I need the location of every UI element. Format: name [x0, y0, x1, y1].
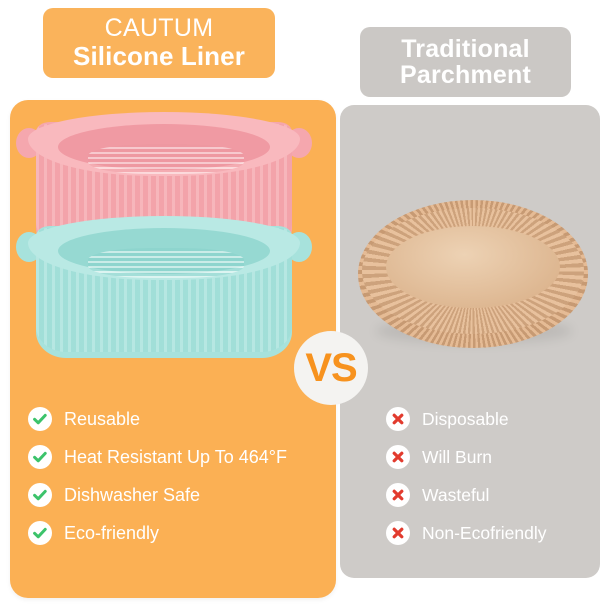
cross-icon: [386, 407, 410, 431]
check-icon: [28, 483, 52, 507]
list-item: Will Burn: [386, 438, 596, 476]
list-item: Eco-friendly: [28, 514, 328, 552]
list-item-label: Non-Ecofriendly: [422, 523, 547, 544]
parchment-base: [386, 226, 560, 308]
list-item: Heat Resistant Up To 464°F: [28, 438, 328, 476]
check-icon: [28, 445, 52, 469]
list-item-label: Disposable: [422, 409, 509, 430]
list-item: Non-Ecofriendly: [386, 514, 596, 552]
brand-name: CAUTUM: [105, 15, 214, 42]
silicone-liner-image: [14, 104, 332, 372]
liner-wave-ridges: [88, 248, 244, 278]
versus-badge: VS: [294, 331, 368, 405]
list-item-label: Wasteful: [422, 485, 489, 506]
cross-icon: [386, 445, 410, 469]
list-item-label: Eco-friendly: [64, 523, 159, 544]
cross-icon: [386, 483, 410, 507]
list-item: Disposable: [386, 400, 596, 438]
list-item-label: Reusable: [64, 409, 140, 430]
list-item: Reusable: [28, 400, 328, 438]
list-item: Wasteful: [386, 476, 596, 514]
liner-wave-ridges: [88, 144, 244, 174]
right-header-line2: Parchment: [400, 62, 531, 89]
right-feature-list: Disposable Will Burn Wasteful Non-Ecofri…: [386, 400, 596, 552]
check-icon: [28, 407, 52, 431]
comparison-infographic: CAUTUM Silicone Liner Traditional Parchm…: [0, 0, 612, 612]
cross-icon: [386, 521, 410, 545]
check-icon: [28, 521, 52, 545]
parchment-liner-image: [358, 200, 588, 360]
list-item-label: Will Burn: [422, 447, 492, 468]
product-name: Silicone Liner: [73, 43, 245, 71]
versus-label: VS: [305, 346, 356, 391]
list-item-label: Heat Resistant Up To 464°F: [64, 447, 287, 468]
right-header-badge: Traditional Parchment: [360, 27, 571, 97]
list-item: Dishwasher Safe: [28, 476, 328, 514]
right-header-line1: Traditional: [401, 36, 530, 63]
left-header-badge: CAUTUM Silicone Liner: [43, 8, 275, 78]
left-feature-list: Reusable Heat Resistant Up To 464°F Dish…: [28, 400, 328, 552]
mint-silicone-liner: [14, 212, 314, 372]
list-item-label: Dishwasher Safe: [64, 485, 200, 506]
